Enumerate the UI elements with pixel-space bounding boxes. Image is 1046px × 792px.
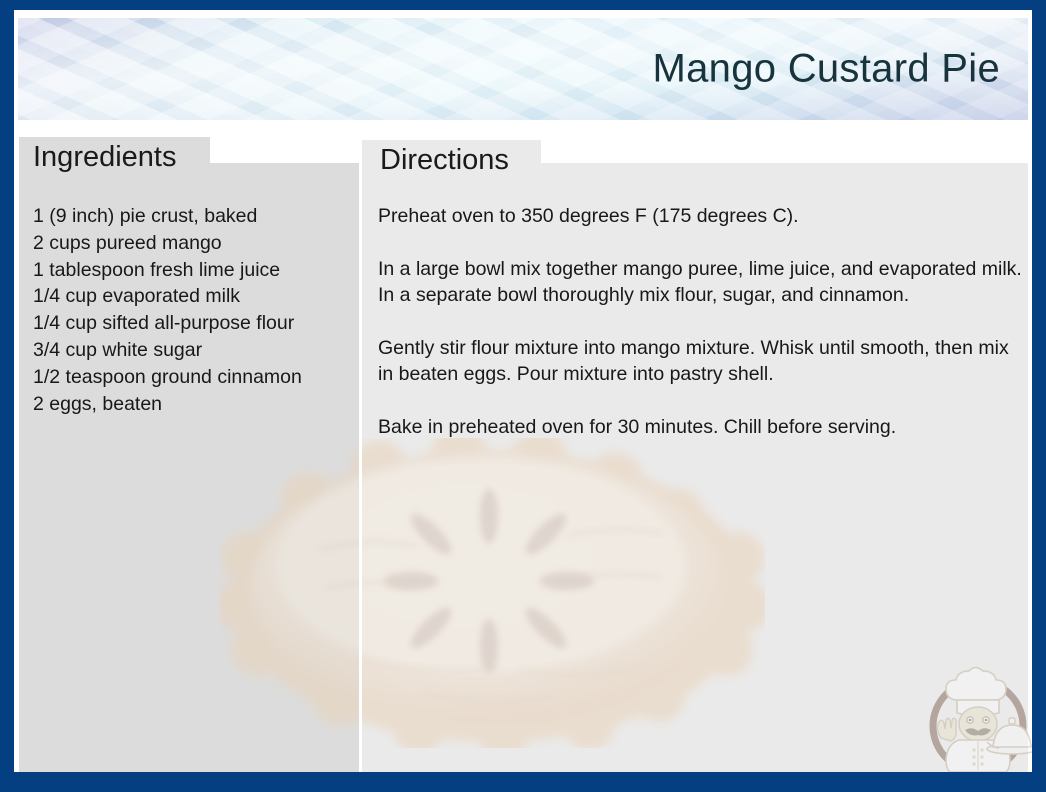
ingredients-heading: Ingredients [33,143,177,172]
page-title: Mango Custard Pie [652,47,1000,92]
ingredient-item: 2 eggs, beaten [33,391,353,418]
directions-list: Preheat oven to 350 degrees F (175 degre… [378,203,1026,440]
ingredient-item: 1/2 teaspoon ground cinnamon [33,364,353,391]
panel-divider [359,163,362,772]
direction-step: In a large bowl mix together mango puree… [378,256,1026,309]
header-banner: Mango Custard Pie [18,18,1028,120]
ingredient-item: 2 cups pureed mango [33,230,353,257]
recipe-page: Mango Custard Pie [14,10,1032,772]
direction-step: Bake in preheated oven for 30 minutes. C… [378,414,1026,441]
tab-ingredients: Ingredients [19,137,210,177]
direction-step: Preheat oven to 350 degrees F (175 degre… [378,203,1026,230]
ingredient-item: 1 (9 inch) pie crust, baked [33,203,353,230]
recipe-card: Mango Custard Pie [0,0,1046,792]
direction-step: Gently stir flour mixture into mango mix… [378,335,1026,388]
ingredient-item: 1/4 cup sifted all-purpose flour [33,310,353,337]
ingredient-item: 1/4 cup evaporated milk [33,283,353,310]
ingredients-list: 1 (9 inch) pie crust, baked2 cups pureed… [33,203,353,417]
ingredient-item: 3/4 cup white sugar [33,337,353,364]
tab-directions: Directions [362,140,541,180]
directions-heading: Directions [380,146,509,175]
ingredient-item: 1 tablespoon fresh lime juice [33,257,353,284]
